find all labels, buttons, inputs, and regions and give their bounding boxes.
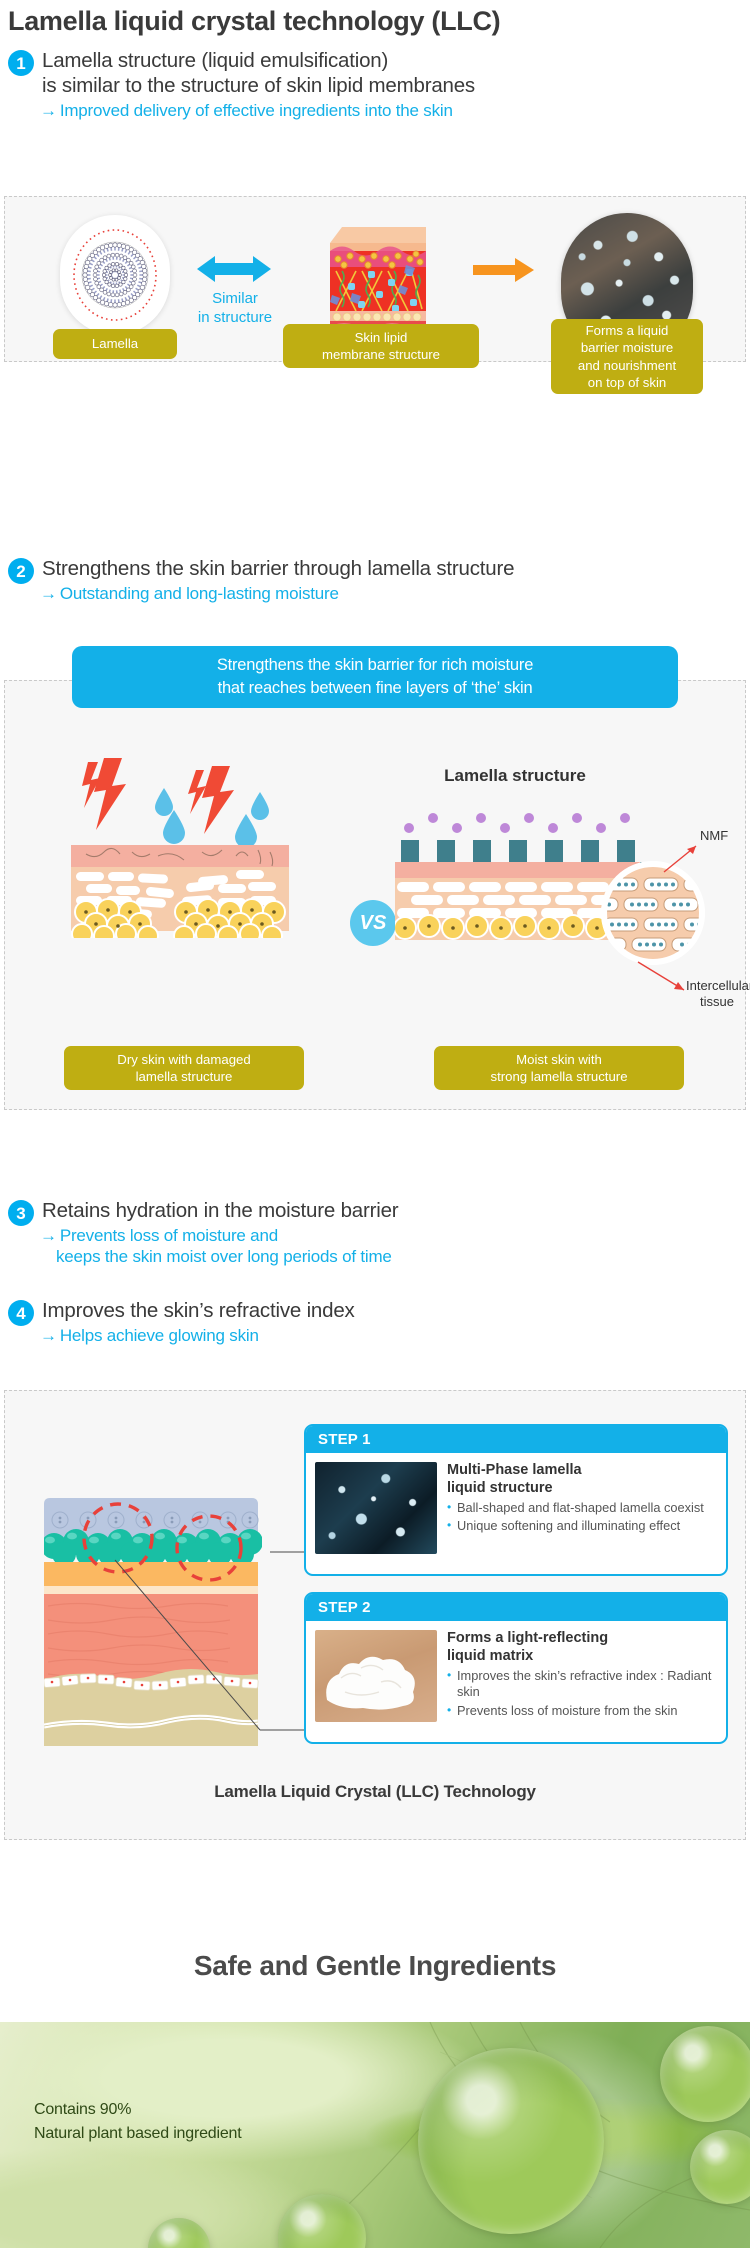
llc-technology-caption: Lamella Liquid Crystal (LLC) Technology (0, 1782, 750, 1802)
step-2-thumbnail (315, 1630, 437, 1722)
similar-line2: in structure (198, 309, 272, 326)
label-forms-liquid-barrier: Forms a liquid barrier moisture and nour… (551, 319, 703, 394)
arrow-right-icon: → (40, 1326, 57, 1345)
lamella-structure-title: Lamella structure (390, 766, 640, 786)
label-moist-skin: Moist skin with strong lamella structure (434, 1046, 684, 1090)
list-item: Ball-shaped and flat-shaped lamella coex… (447, 1500, 716, 1516)
list-item: Improves the skin’s refractive index : R… (447, 1668, 716, 1700)
skin-lipid-membrane-illustration (322, 221, 434, 333)
section-3-subtitle: →Prevents loss of moisture and keeps the… (56, 1225, 398, 1268)
nmf-pointer-icon (660, 840, 716, 879)
section-3-title: Retains hydration in the moisture barrie… (42, 1198, 398, 1223)
step-1-bullets: Ball-shaped and flat-shaped lamella coex… (447, 1500, 716, 1534)
step-2-body: Forms a light-reflecting liquid matrix I… (306, 1621, 726, 1731)
step-1-badge: STEP 1 (306, 1426, 726, 1453)
section-4-title: Improves the skin’s refractive index (42, 1298, 355, 1323)
forms-arrow-icon (473, 257, 535, 288)
section-1-title-line2: is similar to the structure of skin lipi… (42, 74, 475, 97)
section-3-badge: 3 (8, 1200, 34, 1226)
step-1-title: Multi-Phase lamella liquid structure (447, 1462, 716, 1497)
step-1-body: Multi-Phase lamella liquid structure Bal… (306, 1453, 726, 1563)
banner-contains-line: Contains 90% (34, 2101, 131, 2118)
step-2-text: Forms a light-reflecting liquid matrix I… (447, 1630, 716, 1722)
step-2-bullets: Improves the skin’s refractive index : R… (447, 1668, 716, 1718)
dew-drop-large (418, 2048, 604, 2234)
step-card-2: STEP 2 Forms a light-reflecting liquid m… (304, 1592, 728, 1744)
infographic-page: Lamella liquid crystal technology (LLC) … (0, 0, 750, 2248)
arrow-right-icon: → (40, 1226, 57, 1245)
dew-drop-top-right (660, 2026, 750, 2122)
section-2-subtitle: →Outstanding and long-lasting moisture (56, 583, 514, 604)
step-2-title: Forms a light-reflecting liquid matrix (447, 1630, 716, 1665)
step-2-badge: STEP 2 (306, 1594, 726, 1621)
intercellular-tissue-label: Intercellular tissue (686, 978, 750, 1009)
label-lamella: Lamella (53, 329, 177, 359)
page-title: Lamella liquid crystal technology (LLC) (8, 6, 500, 37)
section-2-heading: 2 Strengthens the skin barrier through l… (8, 556, 514, 604)
label-dry-skin: Dry skin with damaged lamella structure (64, 1046, 304, 1090)
list-item: Unique softening and illuminating effect (447, 1518, 716, 1534)
section-1-subtitle: →Improved delivery of effective ingredie… (56, 100, 475, 121)
section-1-title-line1: Lamella structure (liquid emulsification… (42, 49, 388, 72)
section-4-heading: 4 Improves the skin’s refractive index →… (8, 1298, 355, 1346)
step-1-text: Multi-Phase lamella liquid structure Bal… (447, 1462, 716, 1554)
lamella-vesicle-svg (60, 215, 170, 335)
step-card-1: STEP 1 Multi-Phase lamella liquid struct… (304, 1424, 728, 1576)
nmf-label: NMF (700, 828, 728, 844)
safe-gentle-title: Safe and Gentle Ingredients (0, 1950, 750, 1982)
similar-double-arrow-icon (195, 252, 273, 291)
label-skin-lipid-membrane: Skin lipid membrane structure (283, 324, 479, 368)
section-3-sub-line2: keeps the skin moist over long periods o… (56, 1246, 398, 1267)
step-1-thumbnail (315, 1462, 437, 1554)
section-2-title: Strengthens the skin barrier through lam… (42, 556, 514, 581)
strengthens-barrier-banner: Strengthens the skin barrier for rich mo… (72, 646, 678, 708)
similar-in-structure-label: Similar in structure (190, 290, 280, 328)
banner-line2: that reaches between fine layers of ‘the… (218, 677, 533, 700)
skin-cross-section-illustration (44, 1498, 262, 1746)
section-1-sub-line1: Improved delivery of effective ingredien… (60, 101, 453, 120)
banner-natural-line: Natural plant based ingredient (34, 2125, 241, 2142)
section-2-badge: 2 (8, 558, 34, 584)
lamella-vesicle-illustration (60, 215, 170, 335)
section-4-badge: 4 (8, 1300, 34, 1326)
section-1-title: Lamella structure (liquid emulsification… (42, 48, 475, 98)
natural-ingredient-text: Contains 90% Natural plant based ingredi… (34, 2098, 241, 2146)
similar-line1: Similar (212, 290, 258, 307)
section-4-subtitle: →Helps achieve glowing skin (56, 1325, 355, 1346)
banner-line1: Strengthens the skin barrier for rich mo… (217, 654, 533, 677)
section-3-heading: 3 Retains hydration in the moisture barr… (8, 1198, 398, 1268)
vs-badge: VS (350, 900, 396, 946)
arrow-right-icon: → (40, 101, 57, 120)
list-item: Prevents loss of moisture from the skin (447, 1703, 716, 1719)
panel-lamella-similarity: Similar in structure (4, 196, 746, 362)
section-1-badge: 1 (8, 50, 34, 76)
arrow-right-icon: → (40, 584, 57, 603)
natural-ingredient-banner: Contains 90% Natural plant based ingredi… (0, 2022, 750, 2248)
dry-skin-illustration (46, 752, 346, 938)
section-1-heading: 1 Lamella structure (liquid emulsificati… (8, 48, 475, 121)
